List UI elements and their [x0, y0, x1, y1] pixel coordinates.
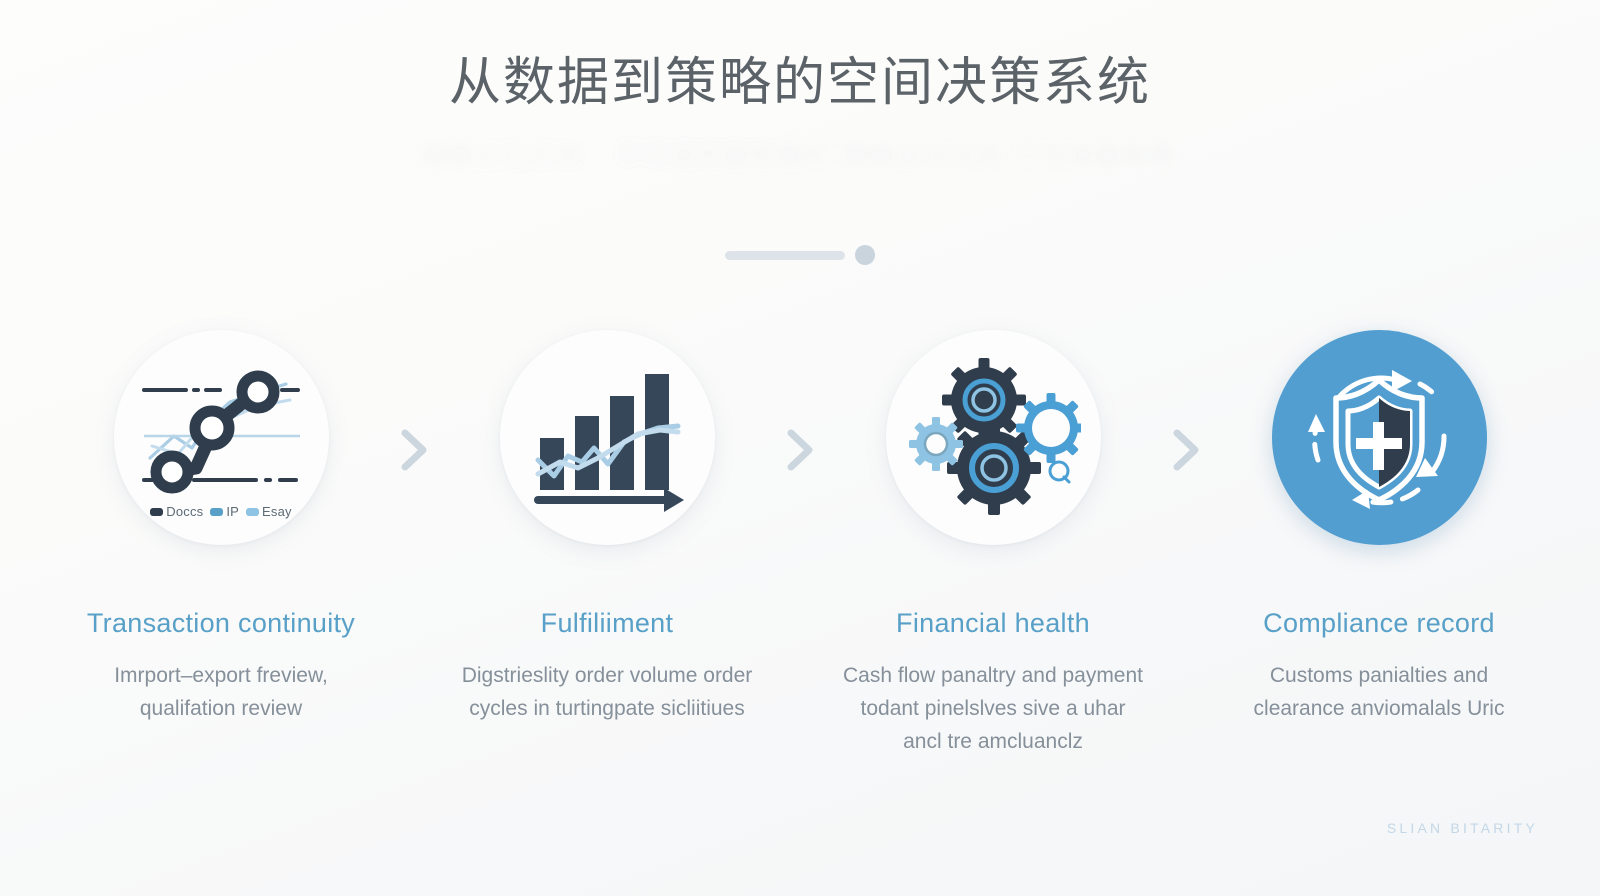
- legend-label-2: Esay: [262, 504, 292, 519]
- legend-item-1: IP: [210, 504, 239, 519]
- step-description-4: Customs panialties and clearance anvioma…: [1229, 659, 1529, 725]
- step-transaction-continuity[interactable]: Doccs IP Esay Transaction continuity Imr…: [56, 330, 386, 725]
- subtitle-blurred-text: 模糊占位文本 · 不可读的副标题行 模糊占位文本 不可读副标题: [210, 140, 1390, 200]
- step-financial-health[interactable]: Financial health Cash flow panaltry and …: [828, 330, 1158, 758]
- legend-swatch-1: [210, 508, 223, 516]
- step-fulfillment[interactable]: Fulfiliiment Digstrieslity order volume …: [442, 330, 772, 725]
- legend-item-0: Doccs: [150, 504, 203, 519]
- step-description-1: Imrport–export freview, qualifation revi…: [71, 659, 371, 725]
- step-title-3: Financial health: [896, 607, 1090, 641]
- divider: [0, 245, 1600, 265]
- bar-chart-growth-icon: [520, 350, 695, 525]
- divider-dot: [855, 245, 875, 265]
- mini-chart-legend: Doccs IP Esay: [114, 504, 329, 519]
- chevron-right-icon-2: [772, 330, 828, 570]
- legend-swatch-0: [150, 508, 163, 516]
- steps-row: Doccs IP Esay Transaction continuity Imr…: [0, 330, 1600, 758]
- step-description-3: Cash flow panaltry and payment todant pi…: [843, 659, 1143, 758]
- legend-swatch-2: [246, 508, 259, 516]
- header: 从数据到策略的空间决策系统 模糊占位文本 · 不可读的副标题行 模糊占位文本 不…: [0, 52, 1600, 200]
- chevron-right-icon-3: [1158, 330, 1214, 570]
- divider-bar: [725, 251, 845, 260]
- step-title-2: Fulfiliiment: [541, 607, 674, 641]
- icon-circle-3: [886, 330, 1101, 545]
- icon-circle-2: [500, 330, 715, 545]
- gears-icon: [906, 350, 1081, 525]
- q-glyph: [1050, 462, 1069, 482]
- legend-label-1: IP: [226, 504, 239, 519]
- watermark: SLIAN BITARITY: [1387, 820, 1538, 836]
- infographic-stage: 从数据到策略的空间决策系统 模糊占位文本 · 不可读的副标题行 模糊占位文本 不…: [0, 0, 1600, 896]
- legend-item-2: Esay: [246, 504, 292, 519]
- icon-circle-4: [1272, 330, 1487, 545]
- shield-refresh-icon: [1292, 350, 1467, 525]
- step-title-4: Compliance record: [1263, 607, 1495, 641]
- chevron-right-icon-1: [386, 330, 442, 570]
- page-title: 从数据到策略的空间决策系统: [0, 52, 1600, 114]
- step-description-2: Digstrieslity order volume order cycles …: [457, 659, 757, 725]
- legend-label-0: Doccs: [166, 504, 203, 519]
- icon-circle-1: Doccs IP Esay: [114, 330, 329, 545]
- line-chart-nodes-icon: [134, 350, 309, 525]
- step-compliance-record[interactable]: Compliance record Customs panialties and…: [1214, 330, 1544, 725]
- step-title-1: Transaction continuity: [87, 607, 355, 641]
